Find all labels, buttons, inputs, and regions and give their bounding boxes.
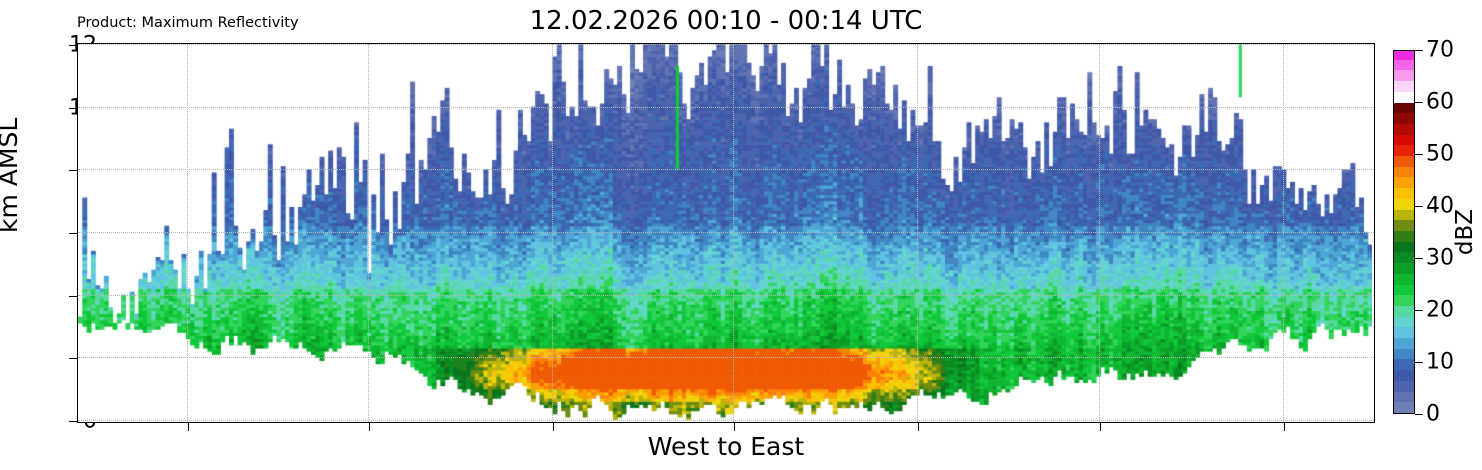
colorbar-segment xyxy=(1394,91,1414,102)
colorbar-segment xyxy=(1394,305,1414,316)
y-axis-tick-mark xyxy=(69,421,77,422)
colorbar-gradient xyxy=(1393,50,1415,414)
colorbar: 010203040506070 xyxy=(1393,50,1415,414)
colorbar-segment xyxy=(1394,166,1414,177)
colorbar-segment xyxy=(1394,262,1414,273)
colorbar-tick-mark xyxy=(1415,258,1423,259)
colorbar-tick-mark xyxy=(1415,102,1423,103)
colorbar-tick-label: 0 xyxy=(1426,402,1440,427)
colorbar-segment xyxy=(1394,134,1414,145)
x-axis-tick-mark xyxy=(369,423,370,431)
colorbar-segment xyxy=(1394,70,1414,81)
y-axis-tick-mark xyxy=(69,170,77,171)
colorbar-segment xyxy=(1394,273,1414,284)
colorbar-tick-label: 30 xyxy=(1426,246,1454,271)
colorbar-segment xyxy=(1394,327,1414,338)
colorbar-tick-label: 20 xyxy=(1426,298,1454,323)
colorbar-segment xyxy=(1394,348,1414,359)
colorbar-segment xyxy=(1394,188,1414,199)
colorbar-segment xyxy=(1394,145,1414,156)
x-axis-tick-mark xyxy=(1100,423,1101,431)
x-axis-tick-mark xyxy=(1284,423,1285,431)
colorbar-tick-mark xyxy=(1415,362,1423,363)
colorbar-tick-label: 60 xyxy=(1426,90,1454,115)
y-axis-tick-mark xyxy=(69,296,77,297)
colorbar-segment xyxy=(1394,402,1414,413)
page-title: 12.02.2026 00:10 - 00:14 UTC xyxy=(77,6,1375,36)
reflectivity-heatmap xyxy=(78,44,1372,420)
colorbar-segment xyxy=(1394,359,1414,370)
plot-area xyxy=(77,43,1375,423)
x-axis-tick-mark xyxy=(188,423,189,431)
colorbar-tick-label: 70 xyxy=(1426,38,1454,63)
colorbar-segment xyxy=(1394,113,1414,124)
colorbar-tick-mark xyxy=(1415,154,1423,155)
grid-line-horizontal xyxy=(78,420,1374,421)
colorbar-tick-mark xyxy=(1415,310,1423,311)
colorbar-segment xyxy=(1394,284,1414,295)
colorbar-segment xyxy=(1394,230,1414,241)
colorbar-segment xyxy=(1394,198,1414,209)
radar-cross-section-figure: Product: Maximum Reflectivity 12.02.2026… xyxy=(0,0,1482,470)
y-axis-tick-mark xyxy=(69,233,77,234)
colorbar-segment xyxy=(1394,59,1414,70)
colorbar-segment xyxy=(1394,50,1414,60)
x-axis-tick-mark xyxy=(918,423,919,431)
colorbar-title: dBZ xyxy=(1452,209,1478,255)
colorbar-segment xyxy=(1394,177,1414,188)
colorbar-segment xyxy=(1394,252,1414,263)
colorbar-segment xyxy=(1394,123,1414,134)
x-axis-label: West to East xyxy=(77,432,1375,461)
colorbar-tick-label: 40 xyxy=(1426,194,1454,219)
y-axis-label: km AMSL xyxy=(0,118,23,233)
colorbar-tick-mark xyxy=(1415,50,1423,51)
x-axis-tick-mark xyxy=(553,423,554,431)
colorbar-tick-mark xyxy=(1415,206,1423,207)
colorbar-tick-mark xyxy=(1415,414,1423,415)
colorbar-segment xyxy=(1394,316,1414,327)
y-axis-tick-mark xyxy=(69,358,77,359)
y-axis-tick-mark xyxy=(69,108,77,109)
colorbar-segment xyxy=(1394,380,1414,391)
y-axis-tick-mark xyxy=(69,45,77,46)
colorbar-segment xyxy=(1394,80,1414,91)
colorbar-tick-label: 50 xyxy=(1426,142,1454,167)
colorbar-segment xyxy=(1394,209,1414,220)
colorbar-segment xyxy=(1394,102,1414,113)
colorbar-segment xyxy=(1394,391,1414,402)
colorbar-segment xyxy=(1394,337,1414,348)
colorbar-segment xyxy=(1394,220,1414,231)
colorbar-segment xyxy=(1394,295,1414,306)
colorbar-segment xyxy=(1394,241,1414,252)
colorbar-segment xyxy=(1394,155,1414,166)
colorbar-segment xyxy=(1394,370,1414,381)
x-axis-tick-mark xyxy=(734,423,735,431)
colorbar-tick-label: 10 xyxy=(1426,350,1454,375)
